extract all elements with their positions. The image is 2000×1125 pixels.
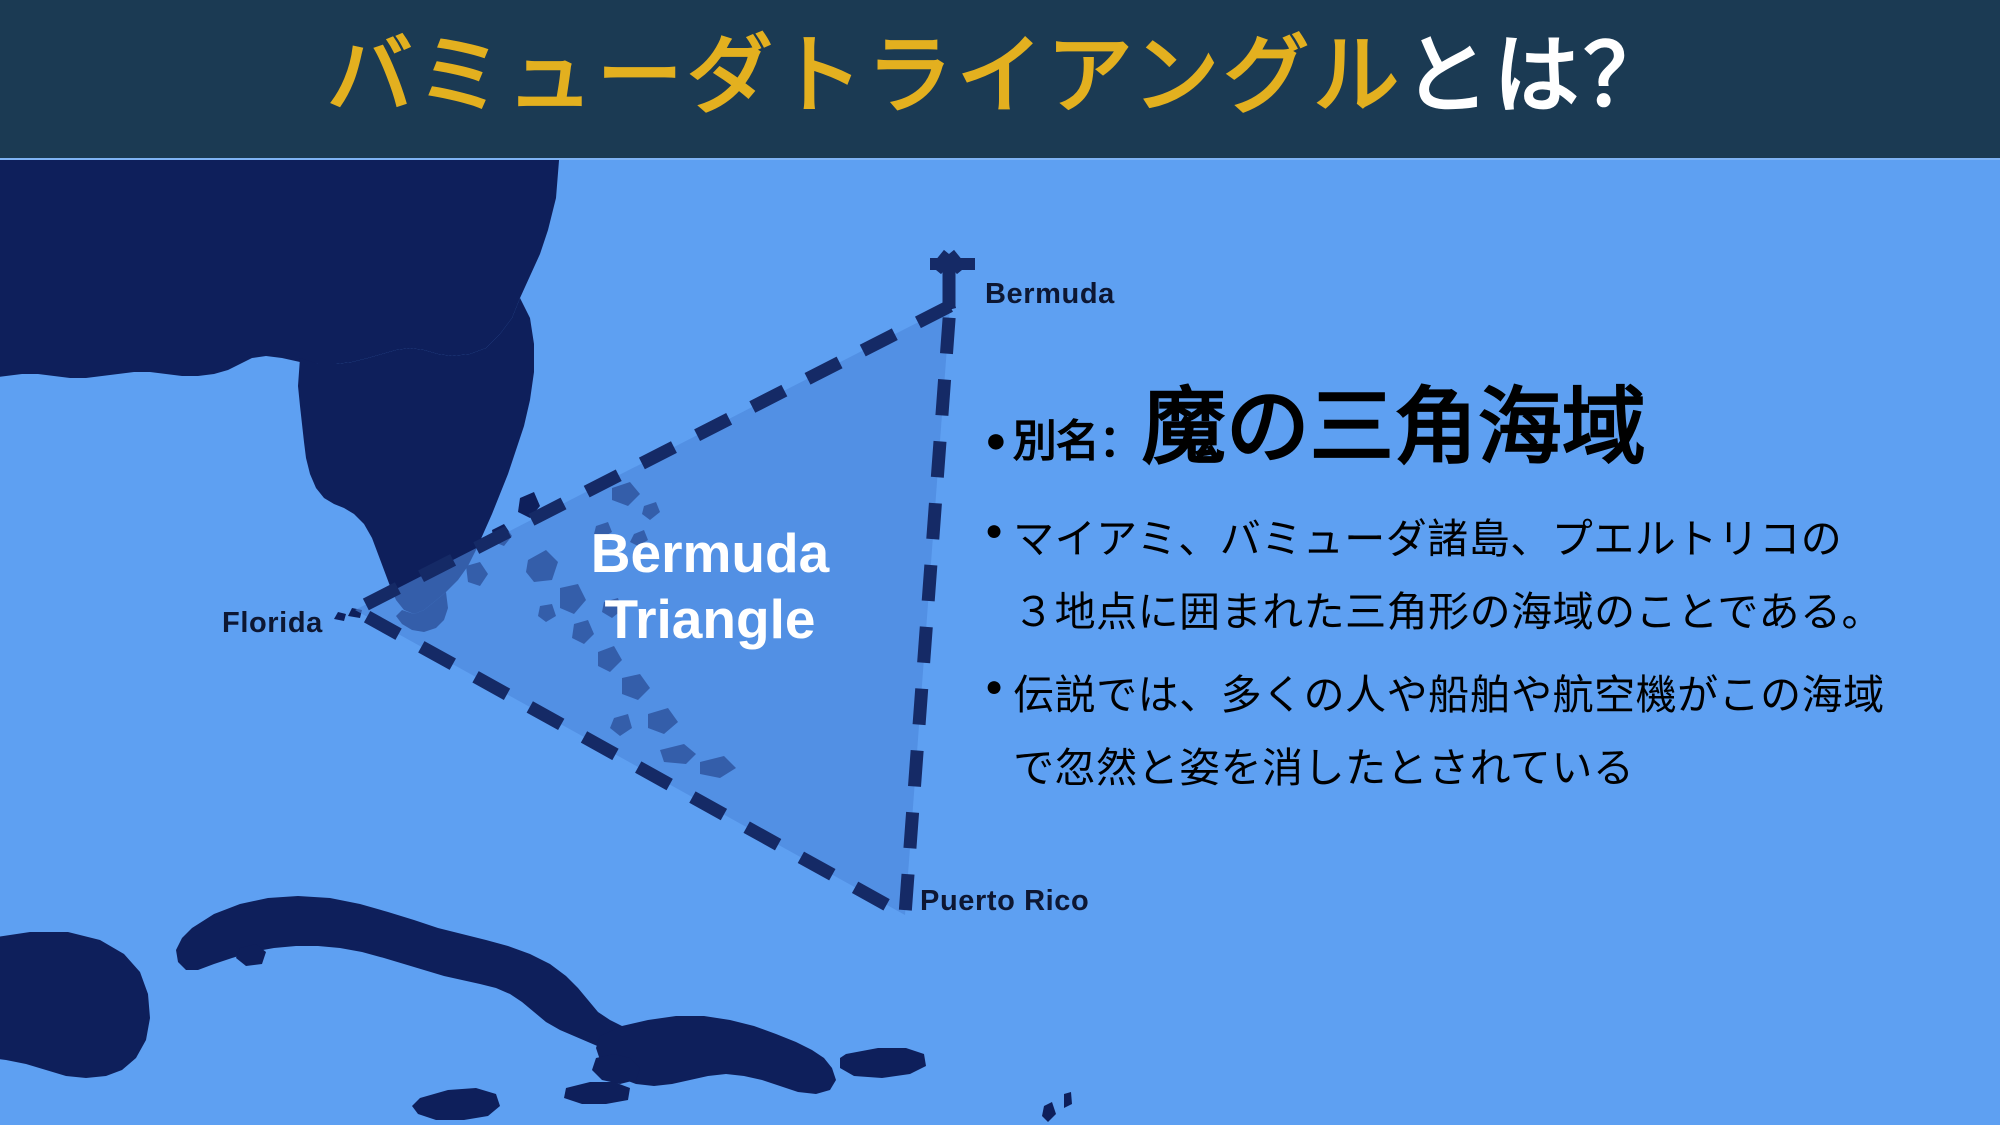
bullet-dot-icon: ● (985, 422, 1007, 458)
alias-prefix-label: 別名： (1013, 405, 1142, 469)
triangle-caption: Bermuda Triangle (510, 520, 910, 652)
content-panel: ● 別名： 魔の三角海域 ● マイアミ、バミューダ諸島、プエルトリコの ３地点に… (985, 385, 1985, 815)
bullet-text-2: 伝説では、多くの人や船舶や航空機がこの海域 で忽然と姿を消したとされている (1013, 659, 1885, 805)
slide-root: Bermuda Triangle Bermuda Florida Puerto … (0, 0, 2000, 1125)
bullet-alias: ● 別名： 魔の三角海域 (985, 385, 1985, 469)
bullet-2-line-2: で忽然と姿を消したとされている (1013, 732, 1885, 805)
bullet-1-line-1: マイアミ、バミューダ諸島、プエルトリコの (1013, 503, 1883, 576)
map-label-bermuda: Bermuda (985, 278, 1115, 311)
map-label-puerto-rico: Puerto Rico (920, 885, 1089, 918)
bermuda-arrow-head (930, 258, 975, 270)
bullet-dot-icon: ● (985, 503, 1003, 559)
title-bar: バミューダトライアングルとは？ (0, 0, 2000, 158)
map-label-florida: Florida (222, 607, 323, 640)
bullet-item-2: ● 伝説では、多くの人や船舶や航空機がこの海域 で忽然と姿を消したとされている (985, 659, 1985, 805)
bullet-dot-icon: ● (985, 659, 1003, 715)
bullet-text-1: マイアミ、バミューダ諸島、プエルトリコの ３地点に囲まれた三角形の海域のことであ… (1013, 503, 1883, 649)
us-mainland-land (0, 158, 560, 378)
page-title-gold-part: バミューダトライアングル (327, 28, 1404, 124)
bullet-item-1: ● マイアミ、バミューダ諸島、プエルトリコの ３地点に囲まれた三角形の海域のこと… (985, 503, 1985, 649)
bullet-2-line-1: 伝説では、多くの人や船舶や航空機がこの海域 (1013, 659, 1885, 732)
bullet-1-line-2: ３地点に囲まれた三角形の海域のことである。 (1013, 576, 1883, 649)
alias-main-label: 魔の三角海域 (1142, 385, 1646, 469)
triangle-caption-line-2: Triangle (510, 586, 910, 652)
page-title-white-part: とは？ (1403, 28, 1673, 124)
triangle-caption-line-1: Bermuda (510, 520, 910, 586)
page-title: バミューダトライアングルとは？ (0, 16, 2000, 136)
